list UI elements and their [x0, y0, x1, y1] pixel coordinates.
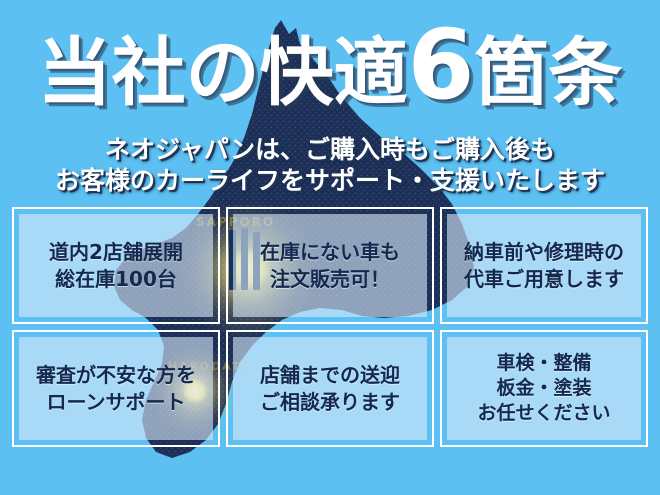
feature-line: 納車前や修理時の [464, 239, 624, 266]
feature-box-inspection-bodywork[interactable]: 車検・整備 板金・塗装 お任せください [440, 330, 648, 447]
feature-box-loaner-car[interactable]: 納車前や修理時の 代車ご用意します [440, 207, 648, 324]
feature-line: 在庫にない車も [260, 239, 400, 266]
page-subtitle: ネオジャパンは、ご購入時もご購入後も お客様のカーライフをサポート・支援いたしま… [0, 134, 660, 196]
page-title: 当社の快適6箇条 [0, 24, 660, 114]
feature-line: お任せください [477, 401, 610, 426]
feature-grid: 道内2店舗展開 総在庫100台 在庫にない車も 注文販売可！ 納車前や修理時の … [12, 207, 648, 447]
feature-line: 板金・塗装 [496, 376, 591, 401]
feature-line: 道内2店舗展開 [49, 239, 183, 266]
feature-line: 店舗までの送迎 [260, 362, 400, 389]
feature-box-stores-inventory[interactable]: 道内2店舗展開 総在庫100台 [12, 207, 220, 324]
subtitle-line-2: お客様のカーライフをサポート・支援いたします [0, 165, 660, 196]
feature-line: 総在庫100台 [55, 266, 177, 293]
feature-line: ローンサポート [47, 389, 186, 416]
feature-line: 車検・整備 [496, 351, 591, 376]
promo-banner: SAPPORO HAKODATE 当社の快適6箇条 ネオジャパンは、ご購入時もご… [0, 0, 660, 495]
feature-box-order-sales[interactable]: 在庫にない車も 注文販売可！ [226, 207, 434, 324]
feature-line: ご相談承ります [260, 389, 400, 416]
feature-line: 代車ご用意します [464, 266, 624, 293]
title-main-text: 当社の快適 [38, 30, 408, 116]
feature-box-loan-support[interactable]: 審査が不安な方を ローンサポート [12, 330, 220, 447]
feature-line: 注文販売可！ [270, 266, 390, 293]
title-tail-text: 箇条 [474, 30, 622, 116]
feature-line: 審査が不安な方を [36, 362, 196, 389]
subtitle-line-1: ネオジャパンは、ご購入時もご購入後も [0, 134, 660, 165]
title-number: 6 [408, 9, 475, 121]
feature-box-pickup-service[interactable]: 店舗までの送迎 ご相談承ります [226, 330, 434, 447]
